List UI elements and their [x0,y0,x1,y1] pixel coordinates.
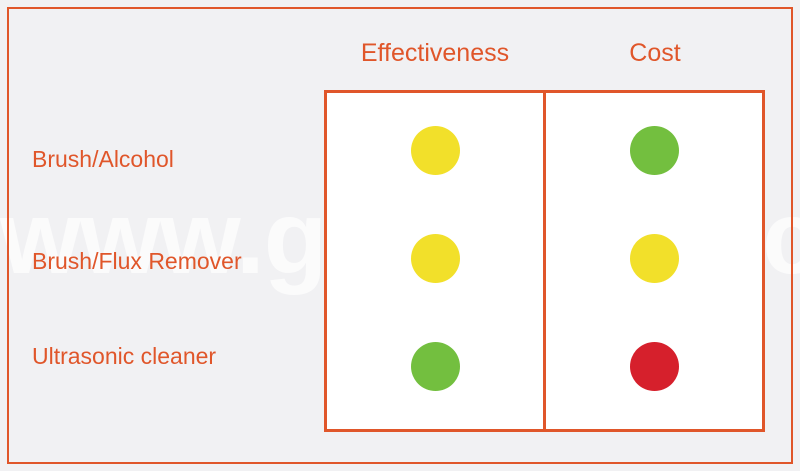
matrix-cell [327,93,543,207]
column-header-cost: Cost [545,40,765,68]
matrix-cell [546,93,762,207]
matrix-column-cost [543,93,762,429]
matrix-cell [546,201,762,315]
matrix-column-effectiveness [327,93,543,429]
row-label-brush-alcohol: Brush/Alcohol [32,147,317,172]
row-label-brush-flux-remover: Brush/Flux Remover [32,249,317,274]
rating-dot-yellow [630,234,679,283]
rating-dot-red [630,342,679,391]
column-header-effectiveness: Effectiveness [325,40,545,68]
matrix-cell [327,309,543,423]
rating-matrix [324,90,765,432]
matrix-cell [327,201,543,315]
row-label-ultrasonic-cleaner: Ultrasonic cleaner [32,344,317,369]
rating-dot-yellow [411,126,460,175]
rating-dot-green [630,126,679,175]
comparison-matrix-figure: www.greattong.com Effectiveness Cost Bru… [0,0,800,471]
matrix-cell [546,309,762,423]
rating-dot-green [411,342,460,391]
rating-dot-yellow [411,234,460,283]
